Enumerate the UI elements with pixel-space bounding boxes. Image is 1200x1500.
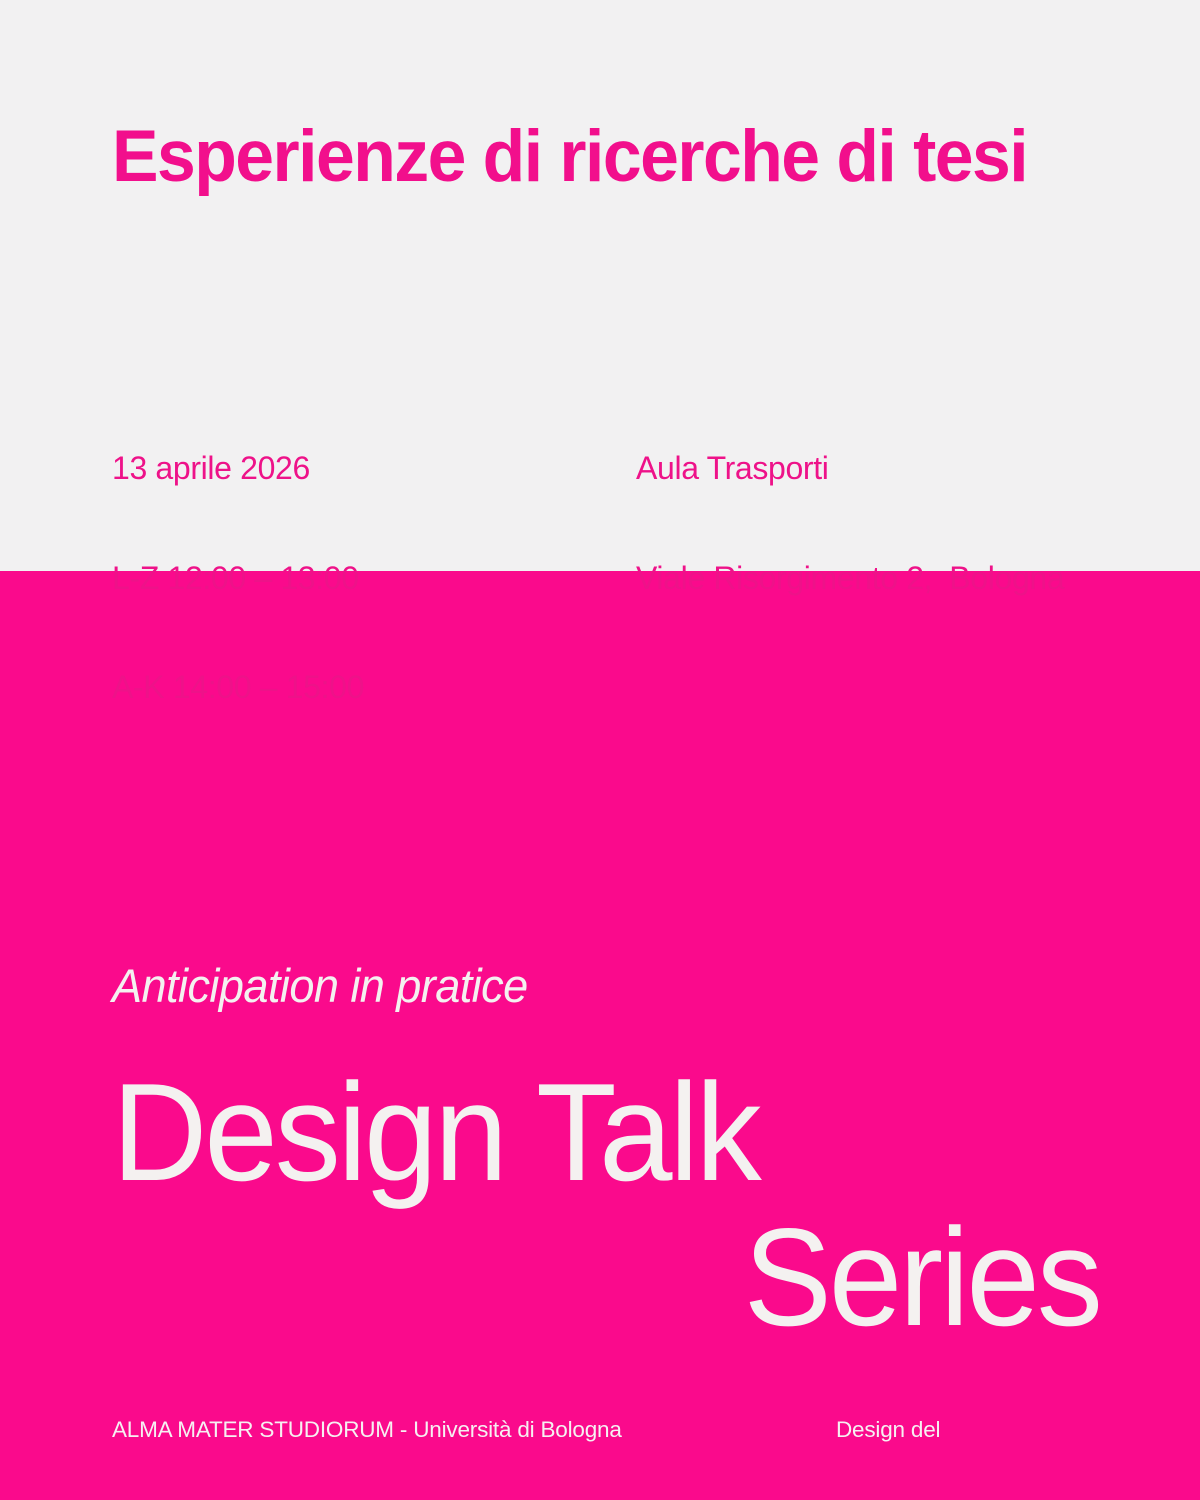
headline-line-series: Series — [744, 1208, 1100, 1347]
event-session-lz: L-Z 12:00 – 13:00 — [112, 560, 364, 597]
poster: Esperienze di ricerche di tesi 13 aprile… — [0, 0, 1200, 1500]
footer-program-line-1: Design del — [836, 1415, 1027, 1445]
event-date: 13 aprile 2026 — [112, 450, 364, 487]
event-date-block: 13 aprile 2026 L-Z 12:00 – 13:00 A-K 14:… — [112, 377, 364, 779]
venue-room: Aula Trasporti — [636, 450, 1064, 487]
footer-university: ALMA MATER STUDIORUM - Università di Bol… — [112, 1415, 622, 1445]
footer-institution-block: ALMA MATER STUDIORUM - Università di Bol… — [112, 1355, 622, 1500]
venue-address: Viale Risorgimento 2, Bologna — [636, 560, 1064, 597]
footer-program-block: Design del Prodotto Industriale — [836, 1355, 1027, 1500]
event-session-ak: A-K 14:00 – 15:00 — [112, 669, 364, 706]
page-title: Esperienze di ricerche di tesi — [112, 121, 1067, 193]
event-venue-block: Aula Trasporti Viale Risorgimento 2, Bol… — [636, 377, 1064, 669]
subtitle-kicker: Anticipation in pratice — [112, 962, 528, 1009]
headline-line-design-talk: Design Talk — [112, 1063, 759, 1202]
